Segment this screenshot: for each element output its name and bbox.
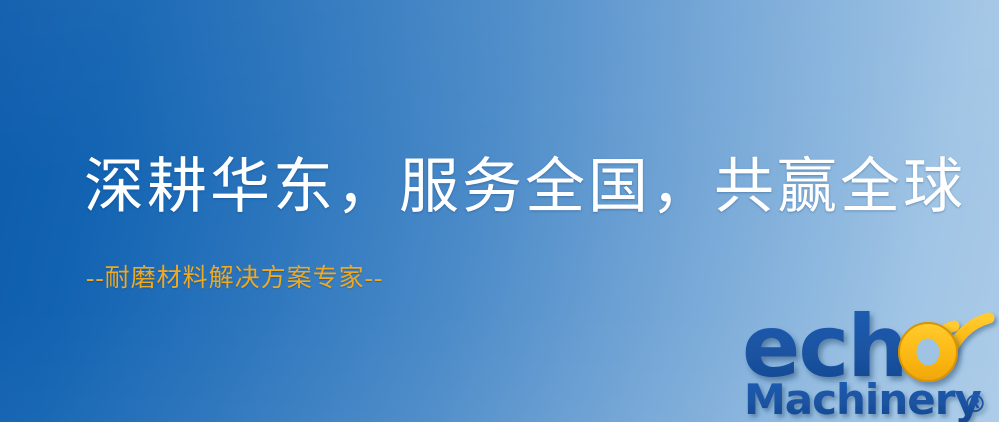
logo-tagline: Machinery ® [744,375,987,422]
svg-text:®: ® [963,390,987,418]
page-title: 深耕华东，服务全国，共赢全球 [84,150,966,224]
logo-wordmark-gold-o [899,323,957,381]
echo-machinery-logo: ech Machinery ® [742,296,999,422]
promo-banner: 深耕华东，服务全国，共赢全球 --耐磨材料解决方案专家-- [0,0,999,422]
banner-subtitle: --耐磨材料解决方案专家-- [86,262,383,296]
svg-text:Machinery: Machinery [744,375,981,422]
